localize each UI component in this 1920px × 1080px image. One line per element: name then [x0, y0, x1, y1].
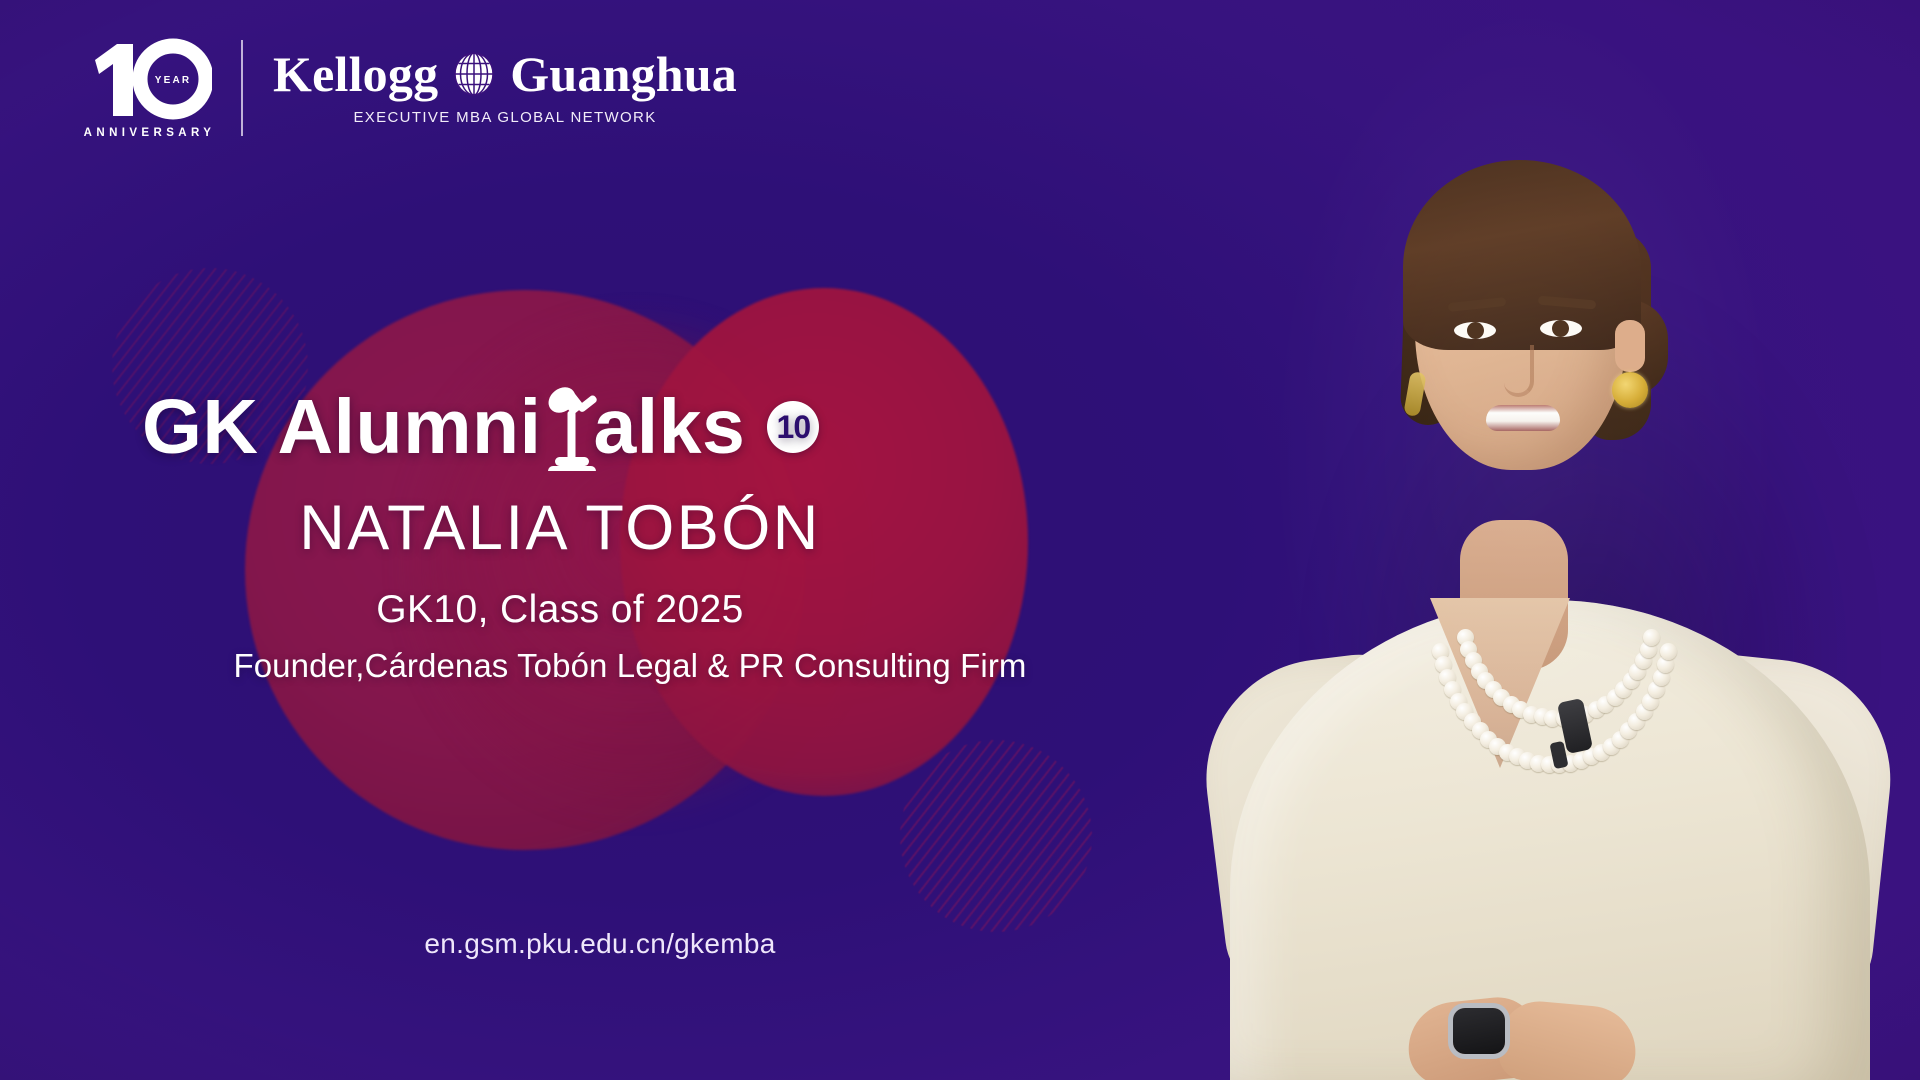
portrait-iris-right	[1552, 320, 1569, 337]
title-part-two: alks	[593, 389, 745, 466]
video-lower-third-slide: YEAR ANNIVERSARY Kellogg	[0, 0, 1920, 1080]
presenter-portrait	[1160, 0, 1920, 1080]
brand-kellogg: Kellogg	[273, 49, 438, 99]
pearl	[1660, 643, 1677, 660]
kellogg-guanghua-logo: YEAR ANNIVERSARY Kellogg	[82, 36, 737, 139]
page-title: GK Alumni alks 10	[142, 385, 1142, 469]
speaker-class: GK10, Class of 2025	[0, 588, 1120, 632]
speaker-role: Founder,Cárdenas Tobón Legal & PR Consul…	[0, 647, 1260, 685]
portrait-earring-right	[1612, 372, 1648, 408]
anniversary-mark: YEAR ANNIVERSARY	[82, 36, 217, 139]
portrait-pearl-necklace	[1418, 600, 1678, 930]
pearl	[1643, 629, 1660, 646]
title-part-one: GK Alumni	[142, 389, 541, 466]
portrait-iris-left	[1467, 322, 1484, 339]
brand-guanghua: Guanghua	[510, 49, 737, 99]
globe-icon	[451, 51, 497, 97]
brand-names-row: Kellogg	[273, 49, 737, 99]
portrait-ear	[1615, 320, 1645, 372]
microphone-icon	[545, 385, 595, 469]
portrait-wristwatch	[1453, 1008, 1505, 1054]
brand-lockup: Kellogg	[273, 49, 737, 126]
logo-divider	[241, 40, 243, 136]
website-url[interactable]: en.gsm.pku.edu.cn/gkemba	[0, 928, 1200, 960]
anniversary-word: ANNIVERSARY	[84, 127, 216, 139]
anniversary-year-label: YEAR	[155, 75, 192, 86]
anniversary-10-icon: YEAR	[87, 36, 212, 120]
edition-badge: 10	[767, 401, 819, 453]
speaker-name: NATALIA TOBÓN	[0, 495, 1120, 561]
portrait-mouth	[1486, 405, 1560, 431]
portrait-nose	[1504, 345, 1534, 397]
brand-subtitle: EXECUTIVE MBA GLOBAL NETWORK	[353, 109, 656, 126]
